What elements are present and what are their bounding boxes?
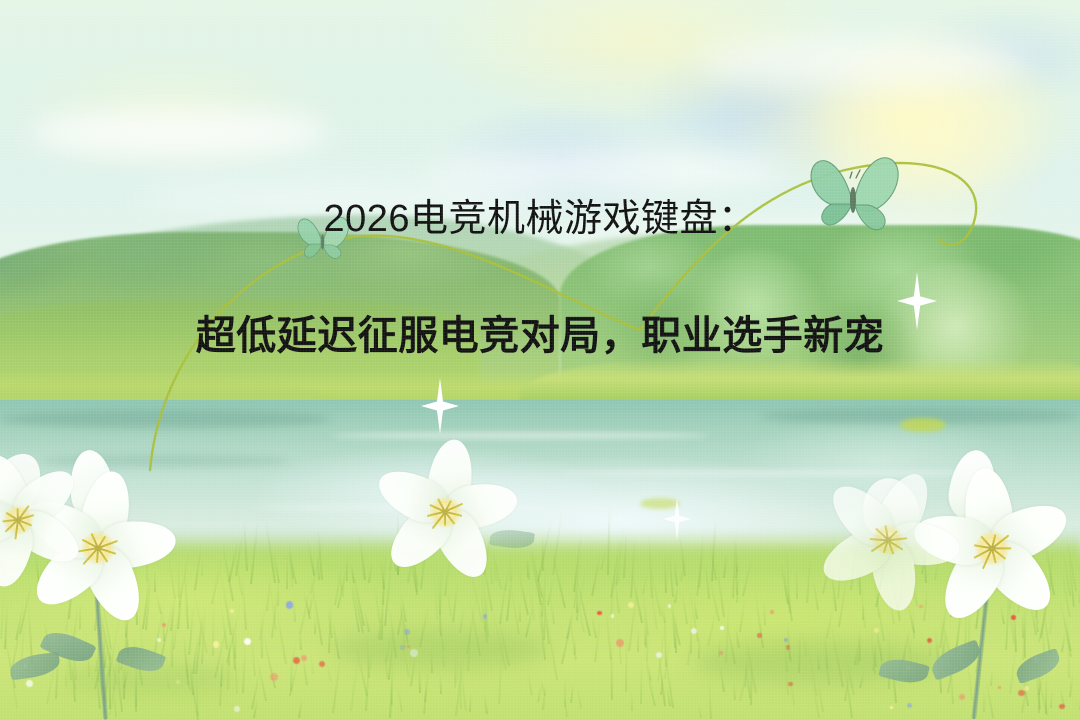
wildflower-speck — [770, 610, 774, 614]
grass-blade — [373, 583, 381, 623]
grass-blade — [681, 592, 688, 624]
wildflower-speck — [162, 623, 166, 627]
grass-blade — [242, 574, 248, 630]
grass-blade — [299, 629, 302, 650]
grass-blade — [594, 618, 601, 662]
grass-blade — [292, 595, 295, 622]
grass-blade — [723, 552, 728, 578]
grass-blade — [990, 669, 993, 686]
grass-blade — [625, 628, 628, 692]
grass-blade — [564, 697, 568, 717]
wildflower-speck — [319, 661, 325, 667]
wildflower-speck — [213, 641, 219, 647]
grass-blade — [168, 555, 177, 599]
cloud-wisp — [30, 110, 330, 156]
wildflower-speck — [616, 639, 624, 647]
grass-blade — [286, 552, 288, 589]
grass-blade — [642, 572, 648, 595]
grass-blade — [469, 693, 472, 712]
grass-blade — [1049, 607, 1054, 634]
grass-blade — [742, 557, 753, 597]
wildflower-speck — [628, 602, 634, 608]
grass-blade — [298, 699, 303, 718]
wildflower-speck — [919, 605, 923, 609]
grass-blade — [673, 561, 678, 586]
poster-canvas: 2026电竞机械游戏键盘： 超低延迟征服电竞对局，职业选手新宠 — [0, 0, 1080, 720]
headline-line-1: 2026电竞机械游戏键盘： — [0, 197, 1080, 241]
grass-blade — [171, 608, 174, 667]
grass-blade — [763, 600, 766, 626]
grass-blade — [576, 688, 582, 709]
grass-blade — [570, 683, 574, 703]
grass-blade — [242, 643, 246, 693]
grass-blade — [637, 629, 639, 652]
water-reflection — [560, 470, 990, 476]
grass-blade — [646, 618, 650, 661]
wildflower-speck — [720, 626, 725, 631]
grass-blade — [183, 563, 188, 629]
grass-blade — [459, 606, 465, 633]
headline-line-2: 超低延迟征服电竞对局，职业选手新宠 — [0, 313, 1080, 359]
grass-blade — [591, 552, 601, 596]
wildflower-speck — [998, 686, 1001, 689]
grass-blade — [527, 671, 534, 695]
grass-blade — [326, 661, 332, 682]
grass-blade — [739, 596, 746, 632]
grass-blade — [697, 702, 702, 718]
wildflower-speck — [234, 706, 240, 712]
grass-blade — [4, 601, 8, 649]
grass-blade — [153, 570, 155, 592]
grass-blade — [644, 662, 656, 706]
grass-blade — [310, 652, 314, 675]
grass-blade — [664, 557, 667, 593]
grass-blade — [440, 675, 442, 694]
grass-blade — [733, 683, 736, 700]
grass-shadow — [330, 630, 550, 670]
wildflower-speck — [230, 609, 234, 613]
grass-blade — [188, 603, 195, 655]
grass-blade — [795, 567, 797, 599]
grass-blade — [923, 586, 929, 621]
grass-blade — [212, 599, 215, 656]
wildflower-speck — [1024, 686, 1029, 691]
grass-blade — [396, 684, 403, 712]
grass-blade — [648, 533, 653, 598]
grass-blade — [668, 551, 674, 597]
grass-blade — [201, 604, 206, 664]
wildflower-speck — [301, 655, 307, 661]
wildflower-speck — [293, 657, 300, 664]
wildflower-speck — [244, 638, 251, 645]
wildflower-speck — [26, 680, 33, 687]
grass-blade — [277, 588, 280, 606]
wildflower-speck — [1059, 704, 1064, 709]
grass-blade — [631, 691, 634, 711]
grass-blade — [310, 580, 322, 645]
grass-blade — [423, 686, 428, 714]
grass-blade — [346, 557, 348, 581]
grass-blade — [550, 596, 555, 624]
grass-blade — [537, 683, 543, 702]
lily-pad — [640, 498, 680, 509]
wildflower-speck — [890, 706, 893, 709]
grass-blade — [358, 534, 366, 580]
grass-blade — [1061, 632, 1066, 652]
wildflower-speck — [907, 703, 912, 708]
grass-blade — [79, 601, 81, 628]
water-reflection — [330, 432, 710, 439]
wildflower-speck — [286, 601, 293, 608]
grass-blade — [576, 603, 578, 621]
grass-blade — [999, 605, 1004, 624]
grass-blade — [439, 561, 443, 615]
grass-blade — [674, 586, 679, 603]
grass-blade — [519, 602, 521, 622]
wildflower-speck — [270, 673, 277, 680]
grass-blade — [483, 693, 488, 714]
grass-blade — [201, 559, 204, 576]
grass-blade — [274, 604, 286, 664]
grass-blade — [812, 577, 819, 610]
water-shadow — [0, 410, 330, 428]
grass-blade — [542, 686, 546, 710]
grass-blade — [640, 657, 643, 704]
wildflower-speck — [927, 638, 932, 643]
grass-blade — [1050, 690, 1053, 708]
wildflower-speck — [959, 694, 965, 700]
wildflower-speck — [597, 611, 601, 615]
cloud-wisp — [700, 35, 1030, 89]
grass-blade — [368, 562, 373, 583]
grass-blade — [983, 686, 985, 712]
grass-blade — [862, 604, 864, 620]
lily-pad — [900, 418, 946, 432]
grass-blade — [591, 616, 597, 638]
wildflower-speck — [157, 638, 161, 642]
grass-blade — [452, 580, 459, 622]
grass-blade — [708, 682, 712, 719]
grass-blade — [301, 648, 308, 685]
wildflower-speck — [757, 633, 762, 638]
grass-blade — [1069, 673, 1074, 697]
grass-blade — [610, 637, 613, 700]
grass-blade — [806, 552, 812, 603]
grass-blade — [419, 668, 422, 693]
wildflower-speck — [611, 614, 614, 617]
